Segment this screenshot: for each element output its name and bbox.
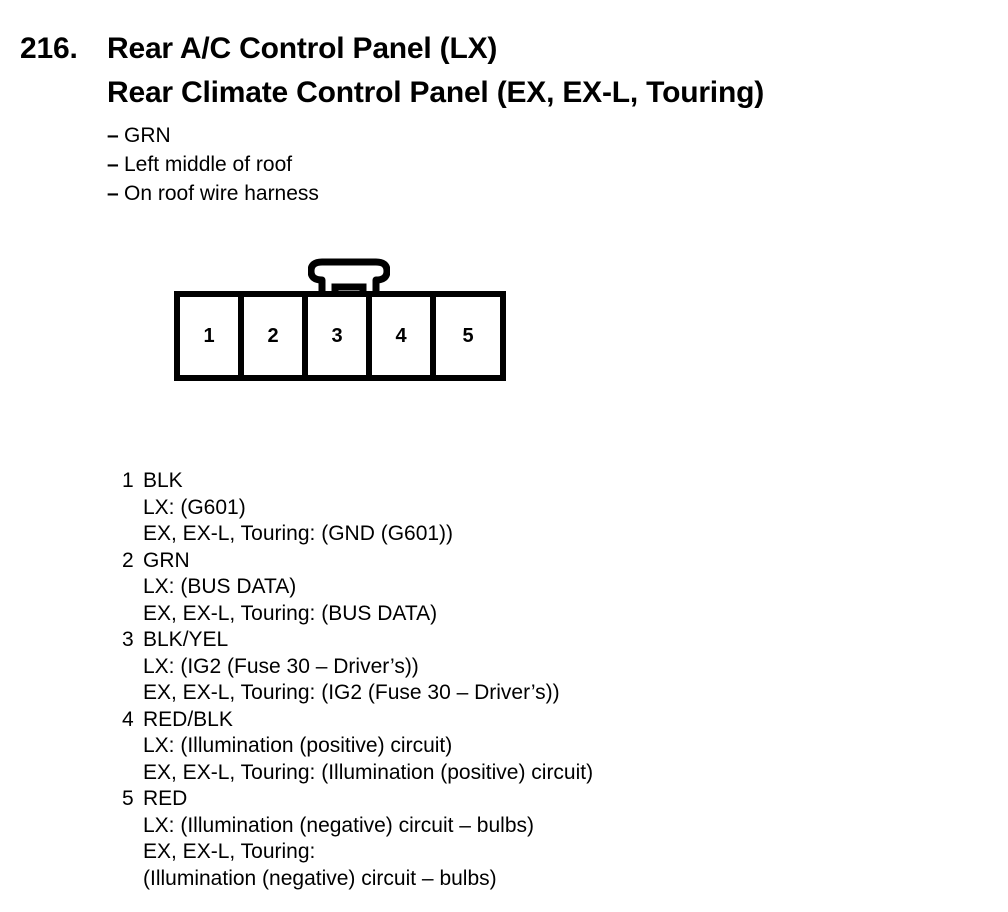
pin-entry: 4RED/BLK LX: (Illumination (positive) ci…: [122, 707, 952, 787]
pin-wire-color: GRN: [143, 549, 190, 572]
pin-detail-ex: EX, EX-L, Touring: (BUS DATA): [122, 601, 952, 628]
pin-entry: 2GRN LX: (BUS DATA) EX, EX-L, Touring: (…: [122, 548, 952, 628]
connector-cavity: 5: [436, 297, 500, 375]
pin-detail-ex: EX, EX-L, Touring: (Illumination (positi…: [122, 760, 952, 787]
pin-wire-color: RED: [143, 787, 187, 810]
pin-number: 1: [122, 468, 143, 495]
pin-detail-lx: LX: (Illumination (positive) circuit): [122, 733, 952, 760]
list-item: –On roof wire harness: [107, 179, 707, 208]
title-line-1: 216.Rear A/C Control Panel (LX): [20, 27, 990, 71]
list-item: –GRN: [107, 121, 707, 150]
pin-header: 4RED/BLK: [122, 707, 952, 734]
pin-header: 2GRN: [122, 548, 952, 575]
pin-detail-ex-continued: (Illumination (negative) circuit – bulbs…: [122, 866, 952, 893]
pin-number: 2: [122, 548, 143, 575]
pin-wire-color: BLK: [143, 469, 183, 492]
pin-entry: 1BLK LX: (G601) EX, EX-L, Touring: (GND …: [122, 468, 952, 548]
pin-detail-lx: LX: (G601): [122, 495, 952, 522]
pin-header: 3BLK/YEL: [122, 627, 952, 654]
list-item: –Left middle of roof: [107, 150, 707, 179]
title-text-lx: Rear A/C Control Panel (LX): [107, 32, 497, 65]
pin-header: 1BLK: [122, 468, 952, 495]
connector-cavity-row: 1 2 3 4 5: [174, 291, 506, 381]
dash-icon: –: [107, 179, 124, 208]
pin-detail-ex: EX, EX-L, Touring: (IG2 (Fuse 30 – Drive…: [122, 680, 952, 707]
pin-entry: 3BLK/YEL LX: (IG2 (Fuse 30 – Driver’s)) …: [122, 627, 952, 707]
page-title: 216.Rear A/C Control Panel (LX) Rear Cli…: [20, 27, 990, 115]
attribute-wire-color: GRN: [124, 124, 171, 147]
pin-description-list: 1BLK LX: (G601) EX, EX-L, Touring: (GND …: [122, 468, 952, 892]
pin-detail-ex: EX, EX-L, Touring:: [122, 839, 952, 866]
pin-header: 5RED: [122, 786, 952, 813]
attribute-location: Left middle of roof: [124, 153, 292, 176]
dash-icon: –: [107, 121, 124, 150]
pin-detail-lx: LX: (IG2 (Fuse 30 – Driver’s)): [122, 654, 952, 681]
dash-icon: –: [107, 150, 124, 179]
section-number: 216.: [20, 27, 107, 71]
pin-wire-color: BLK/YEL: [143, 628, 228, 651]
connector-cavity: 4: [372, 297, 436, 375]
connector-cavity: 1: [180, 297, 244, 375]
title-text-ex: Rear Climate Control Panel (EX, EX-L, To…: [107, 76, 764, 109]
connector-cavity: 2: [244, 297, 308, 375]
pin-number: 3: [122, 627, 143, 654]
pin-detail-lx: LX: (BUS DATA): [122, 574, 952, 601]
attribute-harness: On roof wire harness: [124, 182, 319, 205]
connector-diagram: 1 2 3 4 5: [174, 258, 534, 373]
pin-detail-ex: EX, EX-L, Touring: (GND (G601)): [122, 521, 952, 548]
pin-number: 4: [122, 707, 143, 734]
connector-cavity: 3: [308, 297, 372, 375]
pin-entry: 5RED LX: (Illumination (negative) circui…: [122, 786, 952, 892]
pin-number: 5: [122, 786, 143, 813]
pin-wire-color: RED/BLK: [143, 708, 233, 731]
connector-attributes-list: –GRN –Left middle of roof –On roof wire …: [107, 121, 707, 208]
pin-detail-lx: LX: (Illumination (negative) circuit – b…: [122, 813, 952, 840]
title-line-2: Rear Climate Control Panel (EX, EX-L, To…: [20, 71, 990, 115]
